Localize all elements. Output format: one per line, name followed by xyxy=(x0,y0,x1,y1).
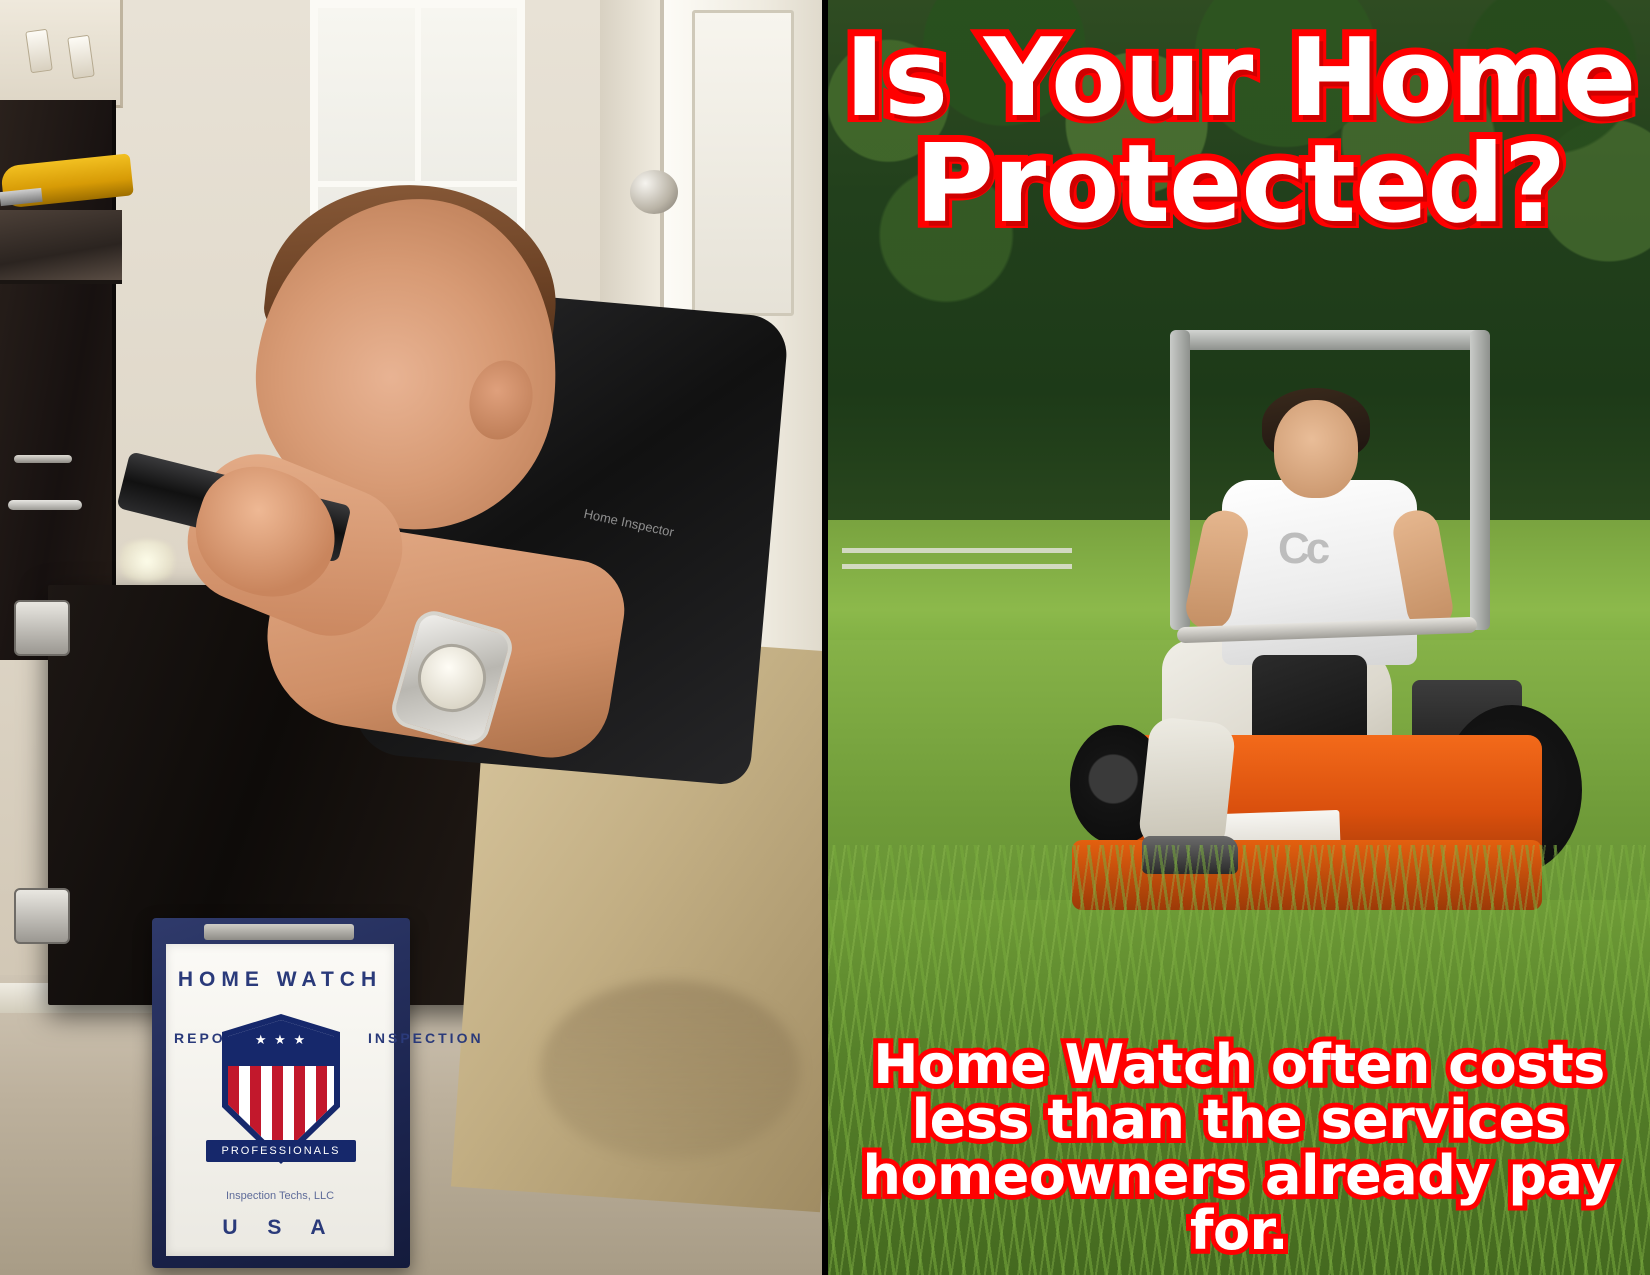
fence xyxy=(842,540,1072,580)
panel-divider xyxy=(822,0,828,1275)
logo-banner: PROFESSIONALS xyxy=(206,1140,356,1162)
cabinet-handle xyxy=(8,500,82,510)
rider-head xyxy=(1274,400,1358,498)
rollbar-top xyxy=(1170,330,1490,350)
subtext: Home Watch often costs less than the ser… xyxy=(828,1037,1650,1259)
shield-blue-field: ★ ★ ★ xyxy=(228,1020,334,1066)
door-knob xyxy=(630,170,678,214)
poster-root: Home Inspector HOME WATCH REPORT INSPECT… xyxy=(0,0,1650,1275)
stars-icon: ★ ★ ★ xyxy=(228,1032,334,1048)
rider-shin xyxy=(1137,716,1236,854)
rollbar-left xyxy=(1170,330,1190,630)
watch-face xyxy=(410,636,494,720)
light-switch-toggle xyxy=(25,29,53,74)
cabinet-hinge xyxy=(14,600,70,656)
headline-line-2: Protected? xyxy=(830,132,1650,238)
logo-text-top: HOME WATCH xyxy=(166,968,394,992)
headline: Is Your Home Protected? xyxy=(830,26,1650,238)
light-switch-plate xyxy=(0,0,123,108)
flashlight-beam xyxy=(112,540,182,582)
logo-text-left: REPORT xyxy=(174,1030,192,1047)
binder-rings xyxy=(204,924,354,940)
rider-shirt-logo: Cc xyxy=(1278,522,1368,576)
left-photo-inspector: Home Inspector HOME WATCH REPORT INSPECT… xyxy=(0,0,822,1275)
knee-shadow xyxy=(540,980,800,1160)
rollbar-right xyxy=(1470,330,1490,630)
cabinet-handle xyxy=(14,455,72,463)
binder-cover-page: HOME WATCH REPORT INSPECTION ★ ★ ★ PROFE… xyxy=(166,944,394,1256)
cabinet-hinge xyxy=(14,888,70,944)
countertop xyxy=(0,210,122,284)
binder-sub-caption: Inspection Techs, LLC xyxy=(166,1190,394,1202)
home-watch-binder: HOME WATCH REPORT INSPECTION ★ ★ ★ PROFE… xyxy=(152,918,410,1268)
logo-text-bottom: U S A xyxy=(166,1216,394,1240)
light-switch-toggle xyxy=(67,35,95,80)
logo-text-right: INSPECTION xyxy=(368,1030,386,1047)
shield-inner: ★ ★ ★ xyxy=(228,1020,334,1156)
door-inset xyxy=(692,10,794,316)
